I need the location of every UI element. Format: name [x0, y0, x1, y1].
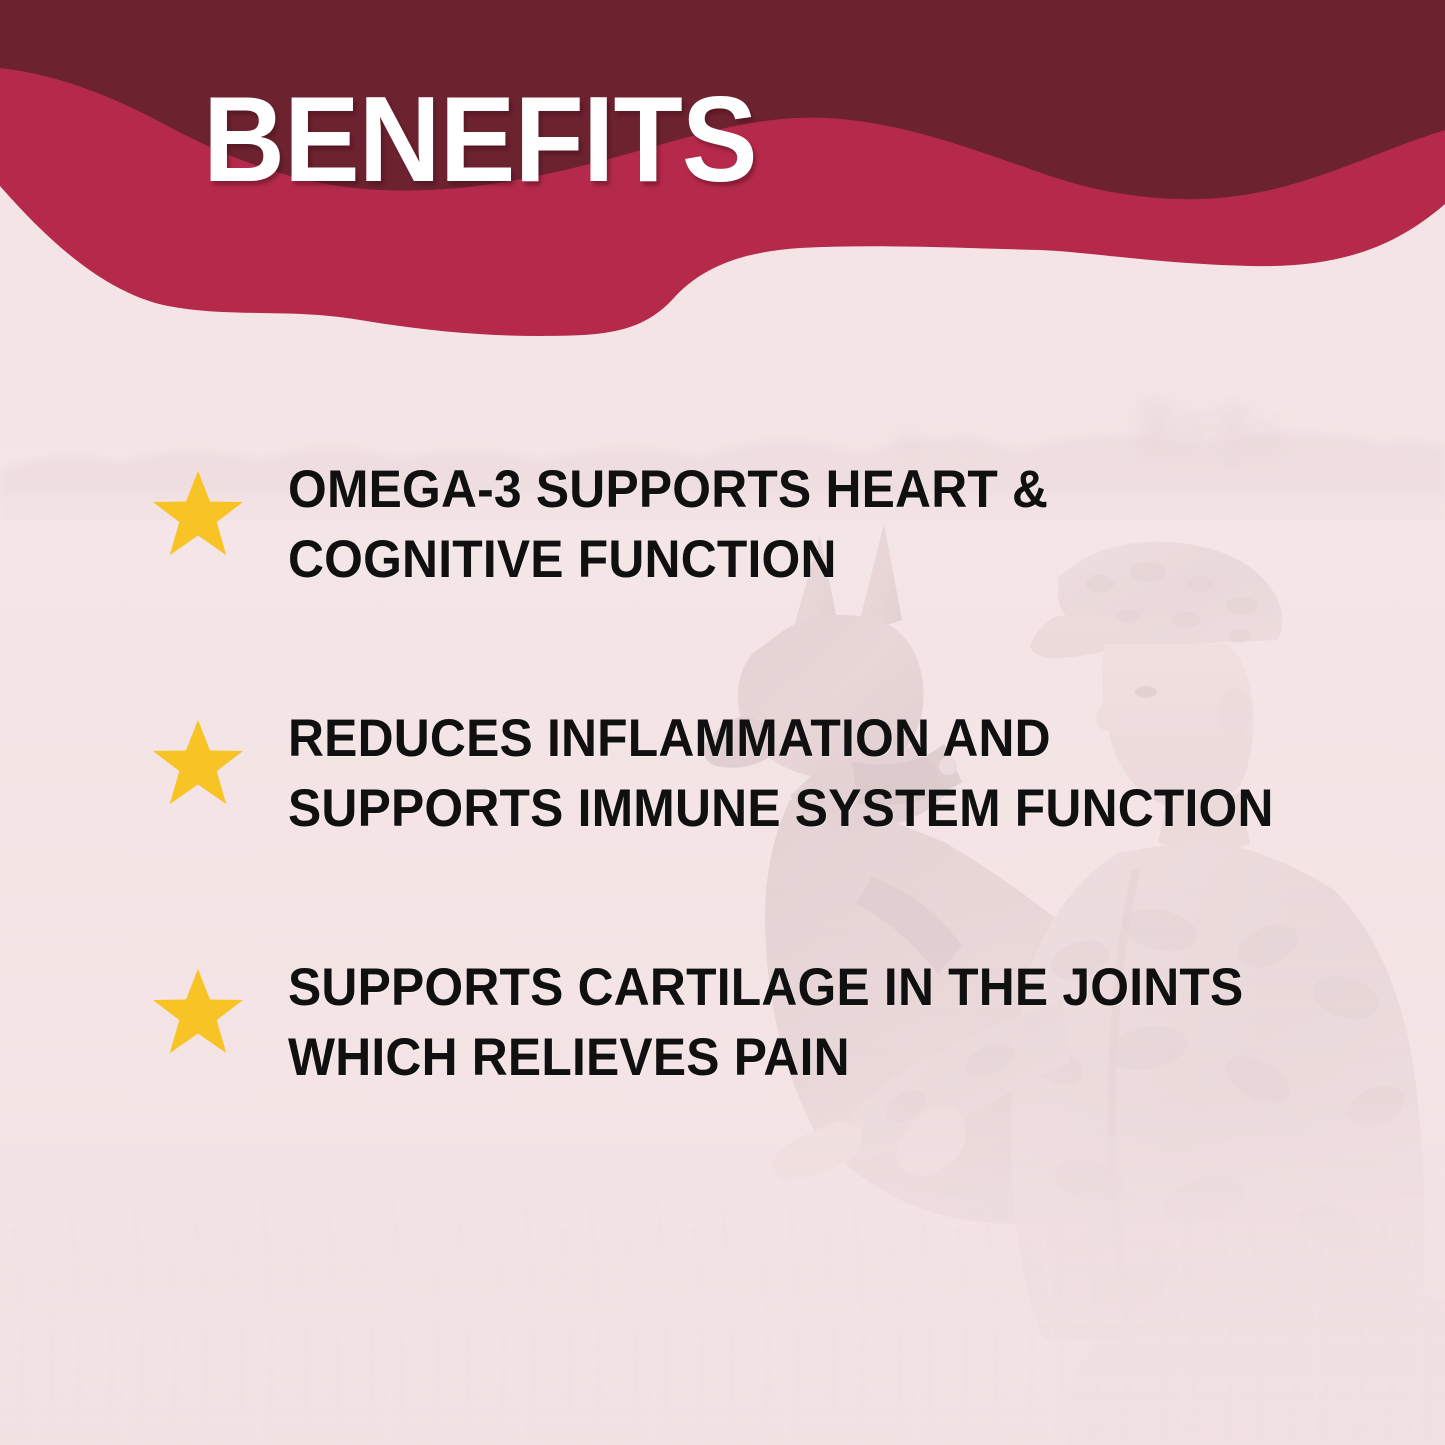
page-title: BENEFITS	[203, 78, 757, 200]
benefit-line: SUPPORTS CARTILAGE IN THE JOINTS	[288, 953, 1338, 1023]
star-icon	[150, 716, 246, 808]
benefit-line: REDUCES INFLAMMATION AND	[288, 704, 1338, 774]
benefit-item-2: REDUCES INFLAMMATION AND SUPPORTS IMMUNE…	[0, 704, 1445, 845]
benefit-line: COGNITIVE FUNCTION	[288, 525, 1338, 595]
benefit-text-1: OMEGA-3 SUPPORTS HEART & COGNITIVE FUNCT…	[288, 455, 1376, 596]
benefit-line: WHICH RELIEVES PAIN	[288, 1023, 1338, 1093]
benefits-infographic: BENEFITS OMEGA-3 SUPPORTS HEART & COGNIT…	[0, 0, 1445, 1445]
star-icon	[150, 965, 246, 1057]
benefit-text-3: SUPPORTS CARTILAGE IN THE JOINTS WHICH R…	[288, 953, 1376, 1094]
benefit-item-3: SUPPORTS CARTILAGE IN THE JOINTS WHICH R…	[0, 953, 1445, 1094]
benefit-item-1: OMEGA-3 SUPPORTS HEART & COGNITIVE FUNCT…	[0, 455, 1445, 596]
star-icon	[150, 467, 246, 559]
benefits-list: OMEGA-3 SUPPORTS HEART & COGNITIVE FUNCT…	[0, 455, 1445, 1094]
benefit-line: OMEGA-3 SUPPORTS HEART &	[288, 455, 1338, 525]
benefit-line: SUPPORTS IMMUNE SYSTEM FUNCTION	[288, 774, 1338, 844]
benefit-text-2: REDUCES INFLAMMATION AND SUPPORTS IMMUNE…	[288, 704, 1376, 845]
